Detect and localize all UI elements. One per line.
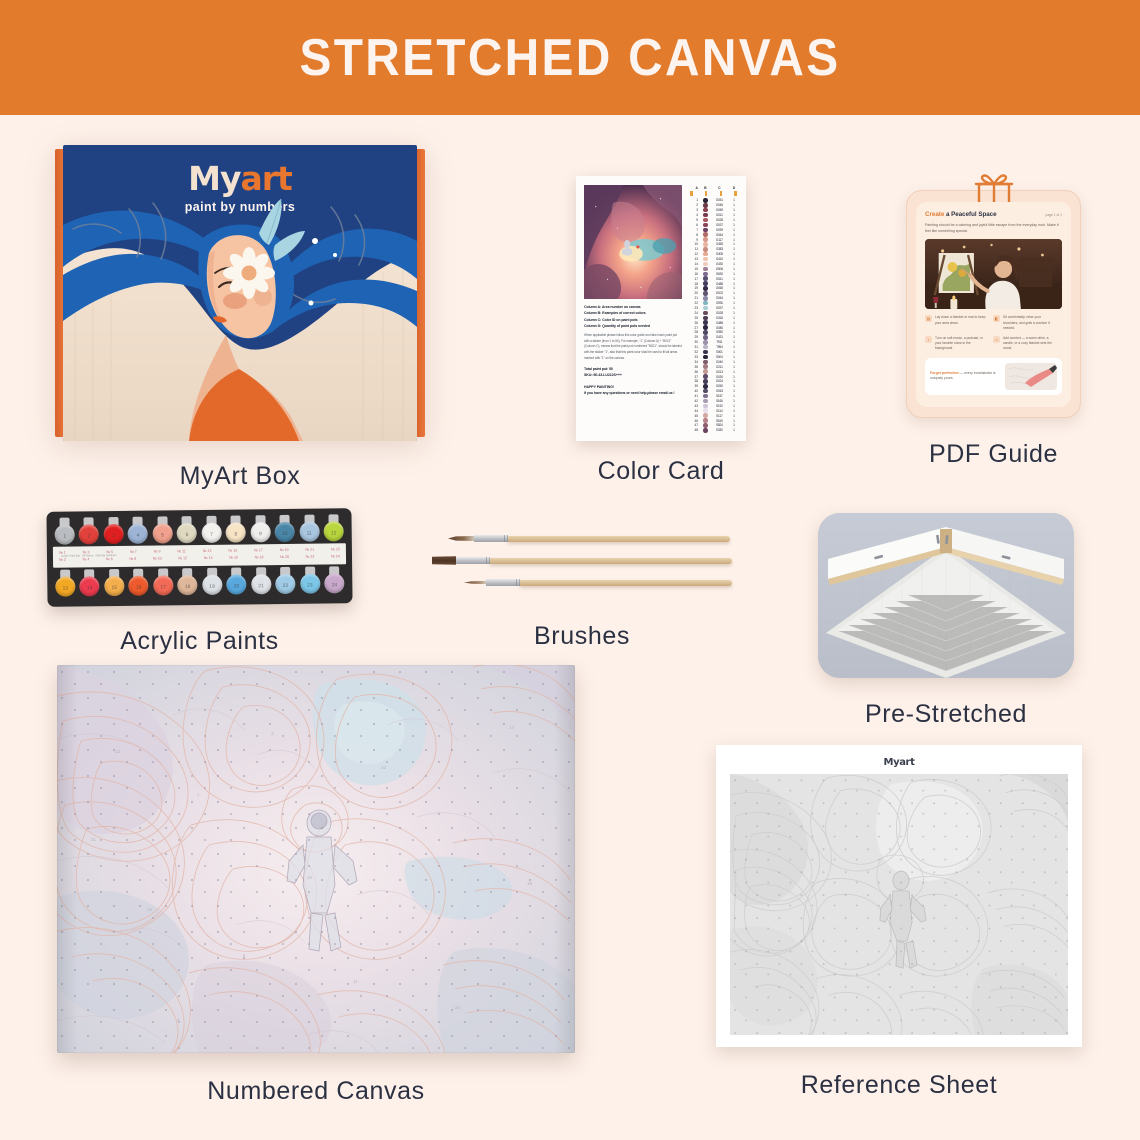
legend-area-number: 6 [690,223,698,227]
paint-pot-number: 19 [201,584,223,590]
paint-pot-number: 11 [298,531,320,537]
paint-pot[interactable]: 6 [176,516,198,543]
paint-pot-number: 17 [152,584,174,590]
legend-quantity: 1 [731,419,737,423]
legend-quantity: 1 [731,414,737,418]
paint-pot-number: 4 [127,533,149,539]
legend-quantity: 1 [731,423,737,427]
numbered-canvas-image: 1273 22918 15611 24430 17218 [57,665,575,1053]
caption-reference-sheet: Reference Sheet [716,1071,1082,1100]
legend-row: 35G2111 [689,364,738,369]
legend-area-number: 28 [690,330,698,334]
legend-row: 9G1171 [689,237,738,242]
color-card-image: Column A: Area number on canvas Column B… [576,176,746,441]
pdf-footer-accent: Forget perfection [930,371,959,375]
round-brush-handle [508,536,730,542]
legend-quantity: 1 [731,409,737,413]
legend-quantity: 1 [731,242,737,246]
paint-pot-number: 22 [274,583,296,589]
legend-color-swatch [703,228,708,233]
legend-color-swatch [703,404,708,409]
product-color-card: Column A: Area number on canvas Column B… [576,176,746,486]
legend-col-a: A [690,186,698,190]
legend-row: 25G3161 [689,315,738,320]
legend-header-row: A B C D [689,186,738,190]
legend-color-id: G405 [713,252,726,256]
legend-area-number: 29 [690,335,698,339]
paint-pot[interactable]: 24 [323,566,345,593]
legend-color-swatch [703,291,708,296]
caption-brushes: Brushes [432,622,732,651]
legend-area-number: 31 [690,345,698,349]
legend-row: 36G0131 [689,369,738,374]
legend-row: 33S0041 [689,355,738,360]
pdf-tip-text: Sit comfortably, relax your shoulders, a… [1003,315,1056,331]
legend-color-swatch [703,423,708,428]
paint-pots-bottom-row: 131415161718192021222324 [52,566,347,597]
legend-area-number: 13 [690,257,698,261]
legend-color-swatch [703,311,708,316]
paint-label-number: № 13 [203,549,212,553]
legend-row: 4G0111 [689,213,738,218]
paint-label-number: № 11 [177,549,186,553]
paint-pot-number: 10 [274,531,296,537]
sku-label: SKU::50-43-LU212S+++ [584,372,682,378]
legend-quantity: 1 [731,257,737,261]
paint-pot[interactable]: 17 [152,568,174,595]
legend-color-id: T954 [713,345,726,349]
legend-quantity: 1 [731,399,737,403]
caption-pdf-guide: PDF Guide [906,440,1081,469]
paint-pot[interactable]: 12 [322,514,344,541]
legend-color-id: G930 [713,301,726,305]
paint-pot-number: 13 [54,586,76,592]
legend-area-number: 20 [690,291,698,295]
pdf-tip: ♪ Turn on soft music, a podcast, or your… [925,336,988,352]
legend-color-id: G011 [713,213,726,217]
legend-row: 28G9501 [689,330,738,335]
legend-area-number: 7 [690,228,698,232]
pdf-tip: ♨ Add comfort — a warm drink, a candle, … [993,336,1056,352]
legend-quantity: 1 [731,389,737,393]
paint-pot-number: 1 [54,534,76,540]
legend-area-number: 17 [690,277,698,281]
paint-pot-number: 7 [200,532,222,538]
legend-color-id: S165 [713,399,726,403]
legend-area-number: 46 [690,419,698,423]
legend-color-id: G097 [713,306,726,310]
legend-color-swatch [703,272,708,277]
legend-row: 6G0371 [689,222,738,227]
legend-color-swatch [703,350,708,355]
legend-row: 43S1921 [689,403,738,408]
legend-area-number: 11 [690,247,698,251]
legend-color-id: G050 [713,384,726,388]
pdf-tip-text: Lay down a blanket or mat to keep your a… [935,315,988,331]
paint-pot[interactable]: 11 [298,515,320,542]
paint-pot-number: 8 [225,531,247,537]
legend-quantity: 1 [731,198,737,202]
paint-pot-number: 21 [250,583,272,589]
legend-quantity: 1 [731,375,737,379]
paint-label-number: № 24 [331,554,340,558]
legend-area-number: 44 [690,409,698,413]
legend-color-id: G013 [713,370,726,374]
legend-color-id: G065 [713,286,726,290]
paint-pot-number: 15 [103,585,125,591]
legend-color-id: S117 [713,414,726,418]
legend-row: 11G3831 [689,247,738,252]
legend-area-number: 40 [690,389,698,393]
legend-area-number: 8 [690,233,698,237]
legend-quantity: 1 [731,213,737,217]
numbered-canvas-artwork: 1273 22918 15611 24430 17218 [57,665,575,1053]
pdf-footer-text: Forget perfection — every brushstroke is… [930,371,1000,382]
legend-col-d: D [731,186,737,190]
product-pre-stretched: Pre-Stretched [818,513,1074,729]
legend-quantity: 1 [731,218,737,222]
caption-acrylic-paints: Acrylic Paints [47,627,352,656]
legend-rows: 1G05112G04613G06914G01115G02816G03717G09… [689,198,738,433]
paint-pot[interactable]: 18 [176,568,198,595]
product-brushes: Brushes [432,528,732,651]
legend-area-number: 3 [690,208,698,212]
paint-pot[interactable]: 16 [127,569,149,596]
paint-pot-number: 12 [323,530,345,536]
legend-row: 20G0021 [689,291,738,296]
legend-quantity: 1 [731,379,737,383]
legend-color-swatch [703,237,708,242]
legend-color-swatch [703,232,708,237]
legend-quantity: 1 [731,301,737,305]
legend-quantity: 1 [731,360,737,364]
legend-color-id: S004 [713,355,726,359]
pdf-header: Create a Peaceful Space page 1 of 1 [925,211,1062,218]
paint-label-number: № 10 [153,556,162,560]
legend-color-id: G316 [713,316,726,320]
legend-quantity: 1 [731,277,737,281]
legend-color-swatch [703,389,708,394]
legend-color-swatch [703,316,708,321]
product-numbered-canvas: 1273 22918 15611 24430 17218 Numbered Ca… [57,665,575,1106]
legend-area-number: 30 [690,340,698,344]
legend-row: 16G6301 [689,271,738,276]
paint-pots-top-row: 123456789101112 [52,514,347,545]
legend-row: 40G0631 [689,389,738,394]
legend-row: 22G9301 [689,301,738,306]
paint-pot[interactable]: 19 [201,568,223,595]
pdf-tip-text: Turn on soft music, a podcast, or your f… [935,336,988,352]
legend-area-number: 4 [690,213,698,217]
pdf-photo [925,239,1062,309]
flat-brush-tip [432,556,456,565]
legend-color-swatch [703,335,708,340]
paint-pot[interactable]: 3 [102,517,124,544]
legend-color-swatch [703,384,708,389]
legend-row: 48S3301 [689,428,738,433]
paint-pot[interactable]: 1 [54,518,76,545]
legend-row: 29G4311 [689,335,738,340]
legend-area-number: 37 [690,375,698,379]
flat-brush [432,556,732,565]
legend-row: 19G0651 [689,286,738,291]
legend-color-swatch [703,276,708,281]
legend-row: 7G0991 [689,227,738,232]
legend-color-swatch [703,257,708,262]
legend-color-swatch [703,364,708,369]
color-card-artwork [584,185,682,299]
legend-area-number: 42 [690,399,698,403]
caption-pre-stretched: Pre-Stretched [818,700,1074,729]
legend-quantity: 1 [731,394,737,398]
paint-label-number: № 23 [331,547,340,551]
color-card-note: When applicable please follow this color… [584,333,682,361]
paint-label-number: № 8 [129,557,136,561]
legend-row: 8G0641 [689,232,738,237]
legend-color-id: G046 [713,203,726,207]
legend-area-number: 27 [690,326,698,330]
liner-brush-ferrule [486,579,520,586]
paint-pot[interactable]: 7 [200,516,222,543]
legend-quantity: 1 [731,252,737,256]
legend-row: 46S5191 [689,418,738,423]
paint-pot[interactable]: 4 [127,517,149,544]
legend-color-id: G211 [713,365,726,369]
legend-row: 44S1141 [689,408,738,413]
paint-pot[interactable]: 8 [225,515,247,542]
legend-color-id: G024 [713,379,726,383]
paint-pot-number: 9 [249,531,271,537]
flat-brush-ferrule [456,557,490,564]
legend-color-swatch [703,399,708,404]
brushes-image [432,528,732,600]
box-illustration [63,145,417,441]
legend-color-swatch [703,281,708,286]
round-brush-tip [448,536,474,541]
box-front-face: Myart paint by numbers [63,145,417,441]
legend-quantity: 1 [731,272,737,276]
flat-brush-handle [490,558,732,564]
legend-row: 47S8241 [689,423,738,428]
legend-row: 3G0691 [689,208,738,213]
legend-color-id: G630 [713,272,726,276]
legend-color-swatch [703,223,708,228]
legend-area-number: 47 [690,423,698,427]
paint-pot[interactable]: 22 [274,567,296,594]
round-brush-ferrule [474,535,508,542]
legend-row: 15G5061 [689,266,738,271]
legend-color-id: S114 [713,409,726,413]
legend-area-number: 24 [690,311,698,315]
paint-label-number: № 7 [130,550,137,554]
legend-quantity: 1 [731,321,737,325]
paint-pot-number: 2 [78,533,100,539]
myart-box-image: Myart paint by numbers [55,145,425,440]
legend-area-number: 5 [690,218,698,222]
legend-color-id: G040 [713,360,726,364]
pdf-guide-image: Create a Peaceful Space page 1 of 1 Pain… [906,168,1081,418]
reference-sheet-artwork [730,774,1068,1035]
legend-area-number: 26 [690,321,698,325]
legend-area-number: 1 [690,198,698,202]
caption-color-card: Color Card [576,457,746,486]
pdf-tip: ◧ Sit comfortably, relax your shoulders,… [993,315,1056,331]
paint-label-number: № 18 [255,555,264,559]
paint-label-number: № 21 [305,548,314,552]
legend-quantity: 1 [731,428,737,432]
legend-color-id: G488 [713,282,726,286]
legend-color-id: S330 [713,428,726,432]
paint-pot[interactable]: 14 [79,569,101,596]
legend-quantity: 1 [731,311,737,315]
legend-quantity: 1 [731,238,737,242]
legend-color-swatch [703,369,708,374]
legend-color-id: G383 [713,247,726,251]
paint-pot[interactable]: 23 [299,567,321,594]
reference-sheet-logo: Myart [884,757,915,768]
pdf-page-label: page 1 of 1 [1046,213,1063,217]
legend-area-number: 25 [690,316,698,320]
legend-color-swatch [703,296,708,301]
legend-area-number: 21 [690,296,698,300]
contact-note: If you have any questions or need help,p… [584,390,682,396]
liner-brush-tip [464,581,486,584]
legend-color-swatch [703,374,708,379]
legend-area-number: 34 [690,360,698,364]
legend-color-id: G117 [713,238,726,242]
legend-row: 38G0241 [689,379,738,384]
legend-quantity: 1 [731,365,737,369]
legend-color-swatch [703,428,708,433]
legend-color-id: G002 [713,291,726,295]
legend-color-id: S001 [713,350,726,354]
paint-pot[interactable]: 9 [249,515,271,542]
legend-color-id: G069 [713,208,726,212]
paint-pot[interactable]: 20 [225,567,247,594]
legend-col-c: C [713,186,726,190]
legend-color-swatch [703,213,708,218]
legend-color-id: G064 [713,233,726,237]
paint-pot[interactable]: 10 [274,515,296,542]
legend-area-number: 19 [690,286,698,290]
legend-area-number: 33 [690,355,698,359]
product-reference-sheet: Myart [716,745,1082,1100]
product-acrylic-paints: 123456789101112 № 1№ 3№ 5№ 7№ 9№ 11№ 13№… [47,510,352,656]
legend-quantity: 1 [731,262,737,266]
legend-quantity: 1 [731,330,737,334]
pdf-footer-photo [1005,363,1057,390]
liner-brush-handle [520,580,732,586]
legend-col-b: B [703,186,708,190]
paint-pot[interactable]: 5 [151,516,173,543]
legend-quantity: 1 [731,223,737,227]
legend-row: 12G4051 [689,252,738,257]
legend-color-id: G511 [713,277,726,281]
legend-color-swatch [703,394,708,399]
legend-row: 17G5111 [689,276,738,281]
legend-color-id: G030 [713,375,726,379]
legend-color-id: G028 [713,218,726,222]
legend-area-number: 38 [690,379,698,383]
paint-pot-number: 3 [103,533,125,539]
legend-row: 18G4881 [689,281,738,286]
paint-pot-number: 24 [323,582,345,588]
legend-color-swatch [703,262,708,267]
pdf-title: Create a Peaceful Space [925,211,997,218]
paint-pot-number: 20 [225,583,247,589]
legend-row: 34G0401 [689,359,738,364]
legend-color-swatch [703,355,708,360]
legend-row: 1G0511 [689,198,738,203]
legend-quantity: 1 [731,208,737,212]
legend-color-id: S157 [713,394,726,398]
legend-area-number: 36 [690,370,698,374]
legend-quantity: 1 [731,286,737,290]
paint-tray-image: 123456789101112 № 1№ 3№ 5№ 7№ 9№ 11№ 13№… [46,508,352,607]
paint-label-number: № 20 [280,555,289,559]
paint-pot-number: 14 [79,585,101,591]
legend-area-number: 41 [690,394,698,398]
color-card-instructions: Column A: Area number on canvas Column B… [584,304,682,396]
legend-color-swatch [703,306,708,311]
pdf-tip-text: Add comfort — a warm drink, a candle, or… [1003,336,1056,352]
legend-color-swatch [703,198,708,203]
legend-quantity: 1 [731,404,737,408]
legend-quantity: 1 [731,370,737,374]
pre-stretched-image [818,513,1074,678]
legend-color-swatch [703,413,708,418]
legend-row: 27G0801 [689,325,738,330]
legend-color-swatch [703,379,708,384]
legend-row: 13G4101 [689,257,738,262]
legend-quantity: 1 [731,296,737,300]
legend-row: 37G0301 [689,374,738,379]
paint-label-number: № 9 [154,549,161,553]
legend-area-number: 45 [690,414,698,418]
legend-color-swatch [703,345,708,350]
paint-pot-number: 5 [152,532,174,538]
legend-color-id: S519 [713,419,726,423]
legend-row: 21G0641 [689,296,738,301]
legend-quantity: 1 [731,340,737,344]
paint-pot-number: 23 [299,583,321,589]
legend-color-swatch [703,320,708,325]
pdf-tips-list: ▤ Lay down a blanket or mat to keep your… [925,315,1062,352]
legend-row: 2G0461 [689,203,738,208]
legend-row: 39G0501 [689,384,738,389]
product-myart-box: Myart paint by numbers MyArt Box [55,145,425,491]
paint-label-number: № 15 [228,549,237,553]
paint-pot[interactable]: 21 [250,567,272,594]
legend-area-number: 48 [690,428,698,432]
legend-row: 32S0011 [689,350,738,355]
paint-pot[interactable]: 2 [78,517,100,544]
legend-area-number: 23 [690,306,698,310]
paint-pot[interactable]: 15 [103,569,125,596]
paint-pot[interactable]: 13 [54,570,76,597]
legend-quantity: 1 [731,350,737,354]
legend-quantity: 1 [731,306,737,310]
paint-pot-number: 16 [128,585,150,591]
paint-label-number: № 22 [306,555,315,559]
legend-row: 10G4551 [689,242,738,247]
legend-color-id: G430 [713,262,726,266]
legend-color-swatch [703,267,708,272]
legend-row: 42S1651 [689,399,738,404]
legend-row: 5G0281 [689,218,738,223]
legend-color-id: T911 [713,340,726,344]
legend-color-id: G080 [713,326,726,330]
